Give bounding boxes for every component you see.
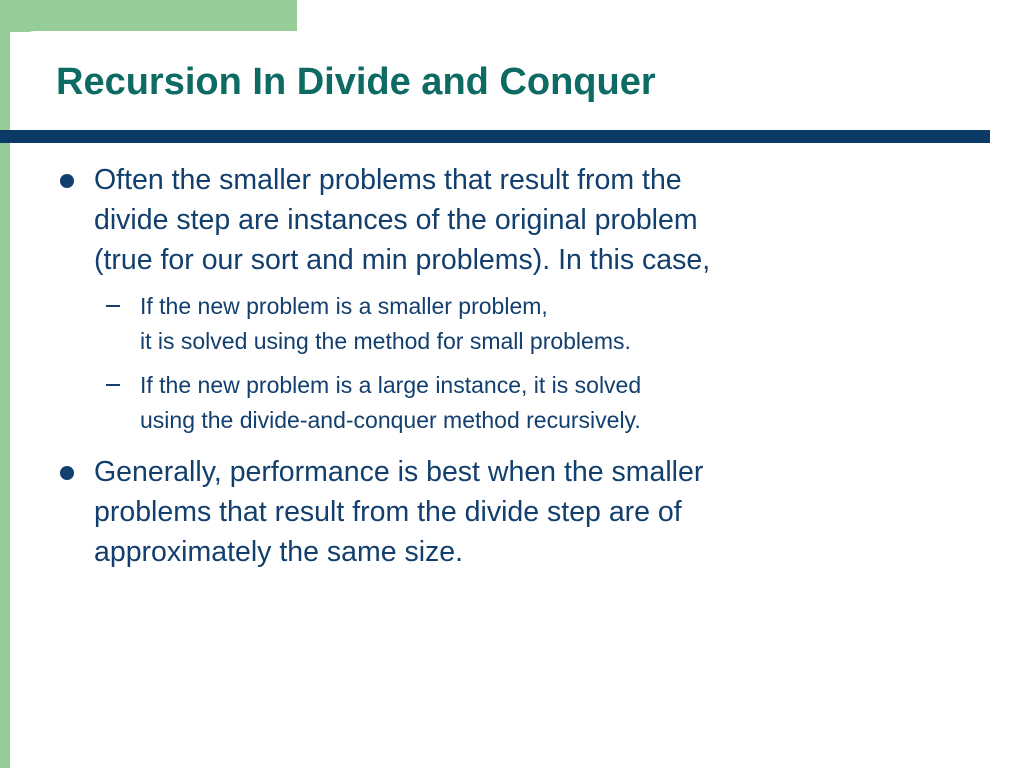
- slide-body: Often the smaller problems that result f…: [52, 160, 992, 574]
- list-item-line: using the divide-and-conquer method recu…: [140, 403, 992, 438]
- list-item-line: Often the smaller problems that result f…: [94, 160, 992, 200]
- spacer: [52, 440, 992, 452]
- list-item-line: (true for our sort and min problems). In…: [94, 240, 992, 280]
- list-item: Often the smaller problems that result f…: [52, 160, 992, 280]
- list-item-line: divide step are instances of the origina…: [94, 200, 992, 240]
- spacer: [52, 282, 992, 289]
- list-item-line: problems that result from the divide ste…: [94, 492, 992, 532]
- title-divider-bar: [0, 130, 990, 143]
- dash-bullet-icon: [106, 384, 120, 386]
- slide-title-block: Recursion In Divide and Conquer: [56, 52, 986, 114]
- list-item-line: approximately the same size.: [94, 532, 992, 572]
- page-title: Recursion In Divide and Conquer: [56, 62, 656, 104]
- list-item-line: If the new problem is a smaller problem,: [140, 289, 992, 324]
- list-item-line: it is solved using the method for small …: [140, 324, 992, 359]
- list-item: If the new problem is a smaller problem,…: [52, 289, 992, 359]
- spacer: [52, 361, 992, 368]
- green-left-accent-strip: [0, 0, 10, 768]
- list-item: If the new problem is a large instance, …: [52, 368, 992, 438]
- slide-canvas: Recursion In Divide and Conquer Often th…: [0, 0, 1024, 768]
- green-top-accent-block: [0, 0, 297, 32]
- disc-bullet-icon: [60, 466, 74, 480]
- dash-bullet-icon: [106, 305, 120, 307]
- list-item-line: If the new problem is a large instance, …: [140, 368, 992, 403]
- list-item: Generally, performance is best when the …: [52, 452, 992, 572]
- list-item-line: Generally, performance is best when the …: [94, 452, 992, 492]
- disc-bullet-icon: [60, 174, 74, 188]
